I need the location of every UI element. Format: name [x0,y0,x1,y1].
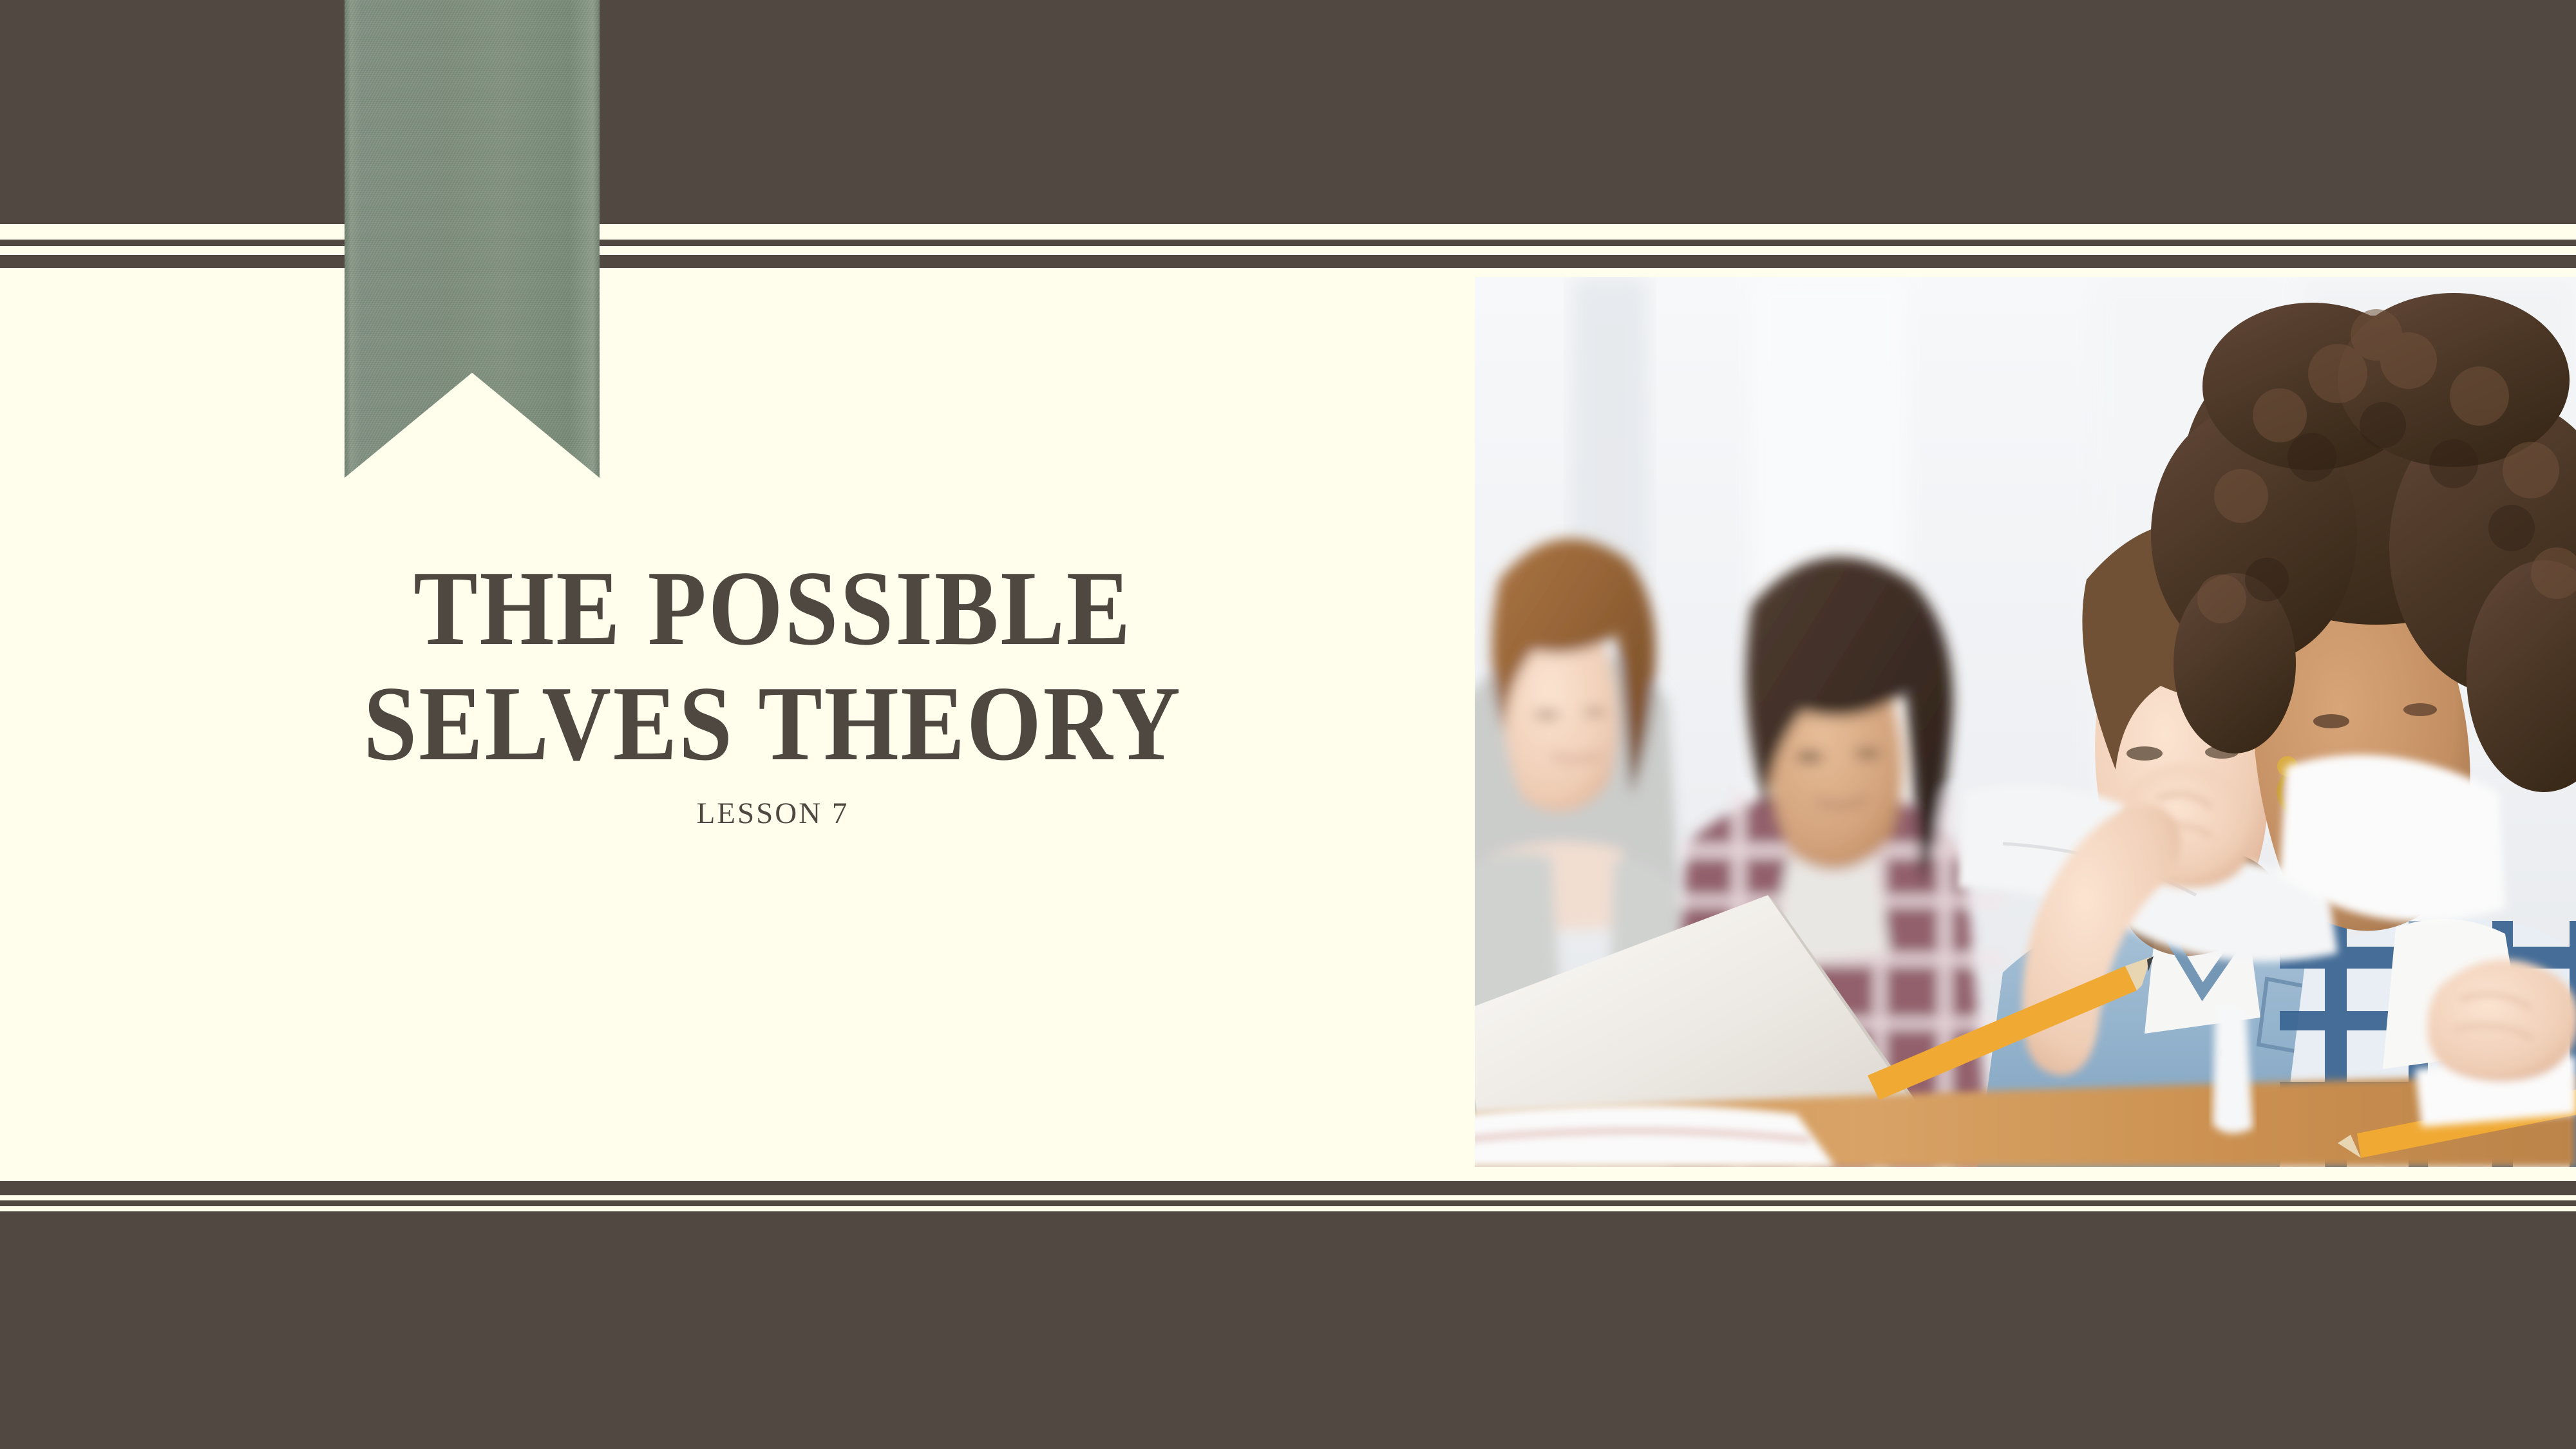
bottom-thin-rule [0,1200,2576,1206]
lesson-subtitle: LESSON 7 [193,796,1352,831]
green-ribbon-bookmark [345,0,600,478]
bottom-dark-band [0,1211,2576,1449]
students-photo-illustration [1475,277,2576,1167]
ribbon-texture-overlay [345,0,600,478]
page-title: THE POSSIBLE SELVES THEORY [251,551,1294,782]
title-block: THE POSSIBLE SELVES THEORY LESSON 7 [193,551,1352,831]
students-photo [1475,277,2576,1167]
bottom-thick-rule [0,1181,2576,1195]
title-slide: THE POSSIBLE SELVES THEORY LESSON 7 [0,0,2576,1449]
